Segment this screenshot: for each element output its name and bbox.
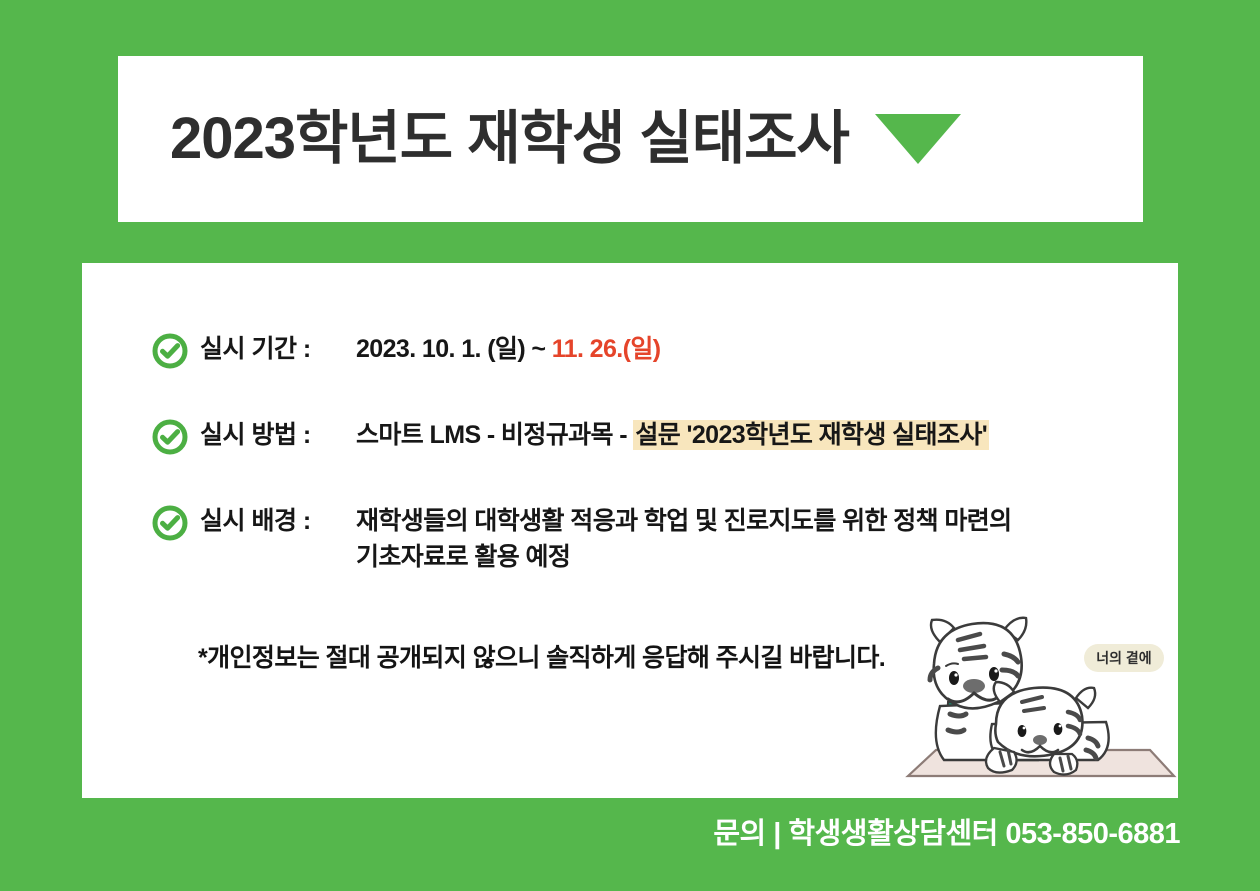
- value-method-highlight: 설문 '2023학년도 재학생 실태조사': [633, 420, 989, 450]
- mascot-speech-bubble-text: 너의 곁에: [1096, 650, 1151, 666]
- info-row-period: 실시 기간 : 2023. 10. 1. (일) ~ 11. 26.(일): [152, 331, 1162, 369]
- tiger-mascot: 너의 곁에: [888, 598, 1178, 798]
- value-background: 재학생들의 대학생활 적응과 학업 및 진로지도를 위한 정책 마련의 기초자료…: [348, 503, 1012, 576]
- page-title: 2023학년도 재학생 실태조사: [170, 110, 849, 168]
- value-background-line2: 기초자료로 활용 예정: [356, 539, 1012, 575]
- value-period-red: 11. 26.(일): [552, 335, 661, 363]
- info-row-background: 실시 배경 : 재학생들의 대학생활 적응과 학업 및 진로지도를 위한 정책 …: [152, 503, 1162, 576]
- value-method: 스마트 LMS - 비정규과목 - 설문 '2023학년도 재학생 실태조사': [348, 417, 989, 453]
- value-method-plain: 스마트 LMS - 비정규과목 -: [356, 421, 633, 449]
- label-period: 실시 기간 :: [200, 331, 348, 369]
- value-period: 2023. 10. 1. (일) ~ 11. 26.(일): [348, 331, 660, 367]
- value-background-line1: 재학생들의 대학생활 적응과 학업 및 진로지도를 위한 정책 마련의: [356, 503, 1012, 539]
- check-circle-icon: [152, 505, 188, 541]
- value-period-black: 2023. 10. 1. (일) ~: [356, 335, 552, 363]
- check-circle-icon: [152, 333, 188, 369]
- label-background: 실시 배경 :: [200, 503, 348, 541]
- footer-contact: 문의 | 학생생활상담센터 053-850-6881: [0, 810, 1180, 852]
- label-method: 실시 방법 :: [200, 417, 348, 455]
- info-row-method: 실시 방법 : 스마트 LMS - 비정규과목 - 설문 '2023학년도 재학…: [152, 417, 1162, 455]
- check-circle-icon: [152, 419, 188, 455]
- poster-root: { "theme": { "background_green": "#55b74…: [0, 0, 1260, 891]
- main-content-card: 실시 기간 : 2023. 10. 1. (일) ~ 11. 26.(일) 실시…: [82, 263, 1178, 798]
- triangle-down-icon: [875, 114, 961, 164]
- title-banner: 2023학년도 재학생 실태조사: [118, 56, 1143, 222]
